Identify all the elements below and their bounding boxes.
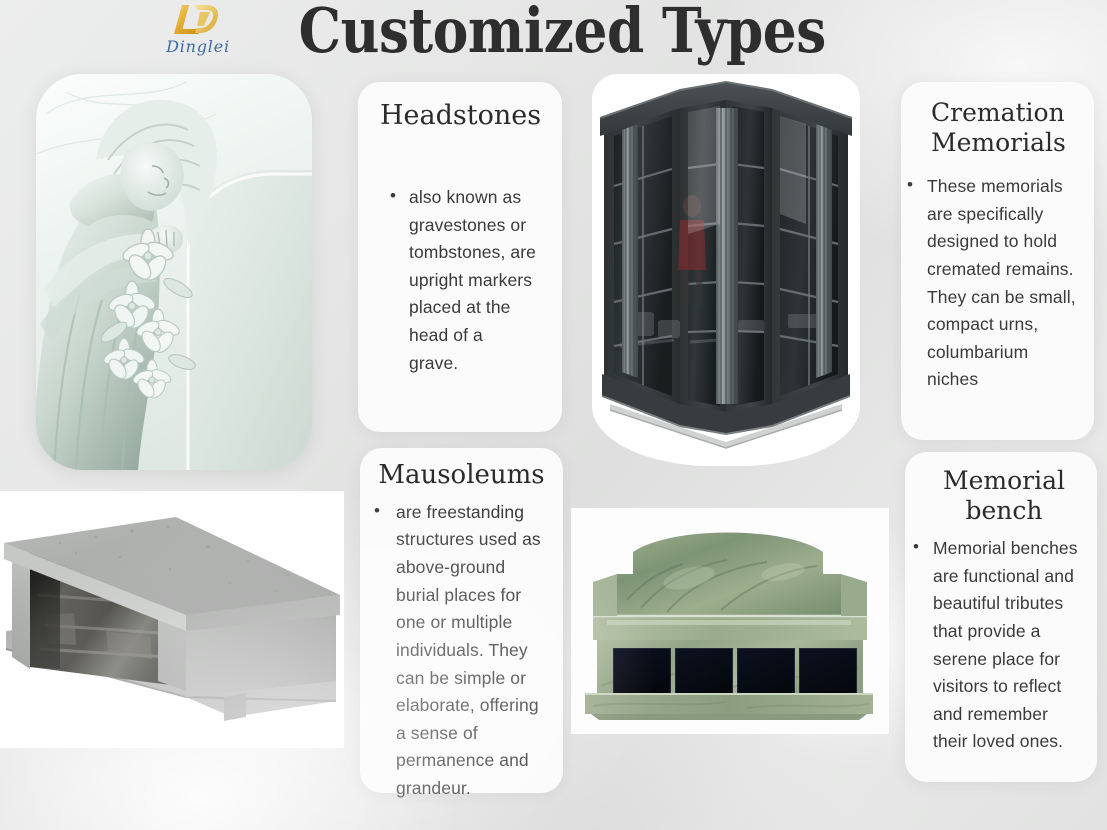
photo-mausoleum xyxy=(0,491,344,748)
card-headstones-body: also known as gravestones or tombstones,… xyxy=(380,184,540,377)
card-bench-body: Memorial benches are functional and beau… xyxy=(913,535,1087,756)
card-headstones: Headstones also known as gravestones or … xyxy=(358,82,562,432)
bullet-item: These memorials are specifically designe… xyxy=(907,173,1082,394)
brand-logo: Dinglei xyxy=(148,2,248,64)
gray-granite-mausoleum-image xyxy=(0,491,344,748)
angel-headstone-image xyxy=(36,74,312,470)
card-mausoleums: Mausoleums are freestanding structures u… xyxy=(360,448,563,793)
card-headstones-title: Headstones xyxy=(380,100,540,132)
card-bench-title: Memorial bench xyxy=(921,466,1087,525)
photo-angel-headstone xyxy=(36,74,312,470)
poster-header: Dinglei Customized Types xyxy=(0,0,1107,78)
photo-memorial-bench xyxy=(571,508,889,734)
card-cremation-body: These memorials are specifically designe… xyxy=(907,173,1082,394)
card-memorial-bench: Memorial bench Memorial benches are func… xyxy=(905,452,1097,782)
bullet-item: also known as gravestones or tombstones,… xyxy=(390,184,536,377)
brand-name: Dinglei xyxy=(148,37,248,56)
page-title: Customized Types xyxy=(299,0,798,63)
card-cremation-memorials: Cremation Memorials These memorials are … xyxy=(901,82,1094,440)
card-mausoleums-title: Mausoleums xyxy=(374,460,549,491)
ld-monogram-icon xyxy=(170,2,226,36)
photo-columbarium xyxy=(592,74,860,466)
poster-canvas: Dinglei Customized Types xyxy=(0,0,1107,830)
black-granite-columbarium-image xyxy=(592,74,860,466)
bullet-item: Memorial benches are functional and beau… xyxy=(913,535,1087,756)
card-mausoleums-body: are freestanding structures used as abov… xyxy=(374,499,549,803)
green-marble-memorial-bench-image xyxy=(571,508,889,734)
card-cremation-title: Cremation Memorials xyxy=(919,98,1082,157)
bullet-item: are freestanding structures used as abov… xyxy=(374,499,549,803)
